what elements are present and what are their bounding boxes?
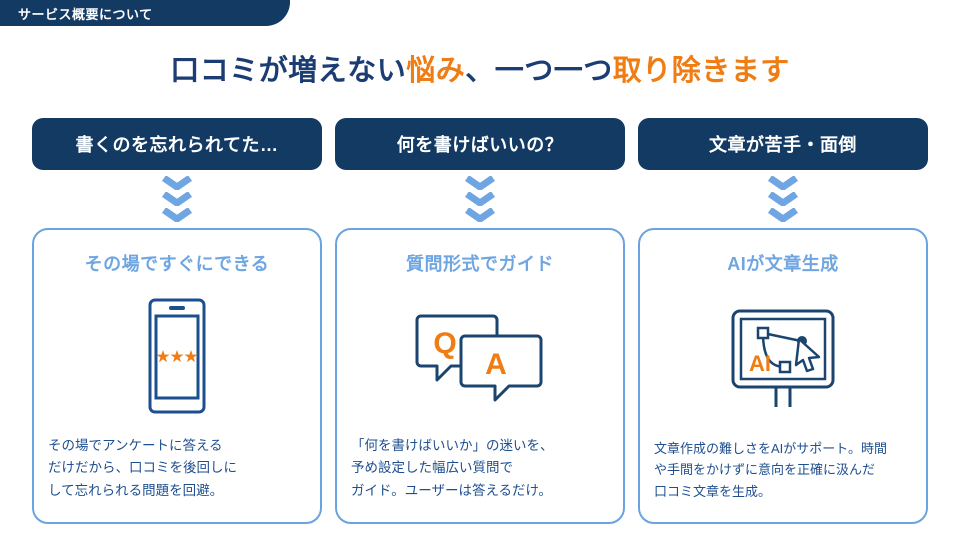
solution-card-body-line: や手間をかけずに意向を正確に汲んだ (654, 459, 912, 480)
feature-columns: 書くのを忘れられてた… その場ですぐにできる (32, 118, 928, 524)
problem-pill-1: 書くのを忘れられてた… (32, 118, 322, 170)
ai-monitor-label: AI (749, 351, 771, 376)
solution-card-body-line: 「何を書けばいいか」の迷いを、 (351, 435, 609, 457)
solution-card-body: その場でアンケートに答える だけだから、口コミを後回しに して忘れられる問題を回… (34, 435, 320, 522)
page-title-part1: 口コミが増えない (170, 55, 406, 87)
solution-card-body-line: 文章作成の難しさをAIがサポート。時間 (654, 438, 912, 459)
qa-bubble-a-label: A (485, 348, 507, 381)
slide-section-tag: サービス概要について (0, 0, 290, 26)
page-title: 口コミが増えない悩み、一つ一つ取り除きます (0, 47, 960, 89)
chevron-down-triple-icon (465, 170, 495, 228)
solution-card-title: 質問形式でガイド (406, 250, 554, 276)
solution-card-title: その場ですぐにできる (85, 250, 270, 276)
solution-card-body: 「何を書けばいいか」の迷いを、 予め設定した幅広い質問で ガイド。ユーザーは答え… (337, 435, 623, 522)
slide-section-tag-label: サービス概要について (0, 4, 153, 23)
page-title-accent2: 取り除きます (613, 55, 790, 87)
page-title-accent1: 悩み (406, 55, 465, 87)
chevron-down-triple-icon (162, 170, 192, 228)
feature-column-2: 何を書けばいいの？ 質問形式でガイド Q A (335, 118, 625, 524)
problem-pill-label: 書くのを忘れられてた… (76, 131, 279, 157)
problem-pill-3: 文章が苦手・面倒 (638, 118, 928, 170)
solution-card-body-line: その場でアンケートに答える (48, 435, 306, 457)
solution-card-body-line: ガイド。ユーザーは答えるだけ。 (351, 480, 609, 502)
solution-card-3: AIが文章生成 AI (638, 228, 928, 524)
solution-card-body: 文章作成の難しさをAIがサポート。時間 や手間をかけずに意向を正確に汲んだ 口コ… (640, 438, 926, 522)
solution-card-body-line: 予め設定した幅広い質問で (351, 457, 609, 479)
solution-card-title: AIが文章生成 (727, 250, 839, 276)
qa-bubble-q-label: Q (433, 327, 456, 360)
feature-column-3: 文章が苦手・面倒 AIが文章生成 (638, 118, 928, 524)
ai-monitor-pen-icon: AI (640, 276, 926, 438)
feature-column-1: 書くのを忘れられてた… その場ですぐにできる (32, 118, 322, 524)
solution-card-body-line: して忘れられる問題を回避。 (48, 480, 306, 502)
chevron-down-triple-icon (768, 170, 798, 228)
solution-card-body-line: 口コミ文章を生成。 (654, 481, 912, 502)
solution-card-2: 質問形式でガイド Q A 「何を書けばいいか」の迷いを、 予め設定した幅広い質問… (335, 228, 625, 524)
problem-pill-label: 何を書けばいいの？ (397, 131, 564, 157)
problem-pill-label: 文章が苦手・面倒 (709, 131, 857, 157)
page-title-part2: 、一つ一つ (465, 55, 613, 87)
qa-speech-bubbles-icon: Q A (337, 276, 623, 435)
solution-card-body-line: だけだから、口コミを後回しに (48, 457, 306, 479)
smartphone-stars-icon (34, 276, 320, 435)
problem-pill-2: 何を書けばいいの？ (335, 118, 625, 170)
solution-card-1: その場ですぐにできる その場でアンケートに答える だけだから、口コミを後回しに … (32, 228, 322, 524)
